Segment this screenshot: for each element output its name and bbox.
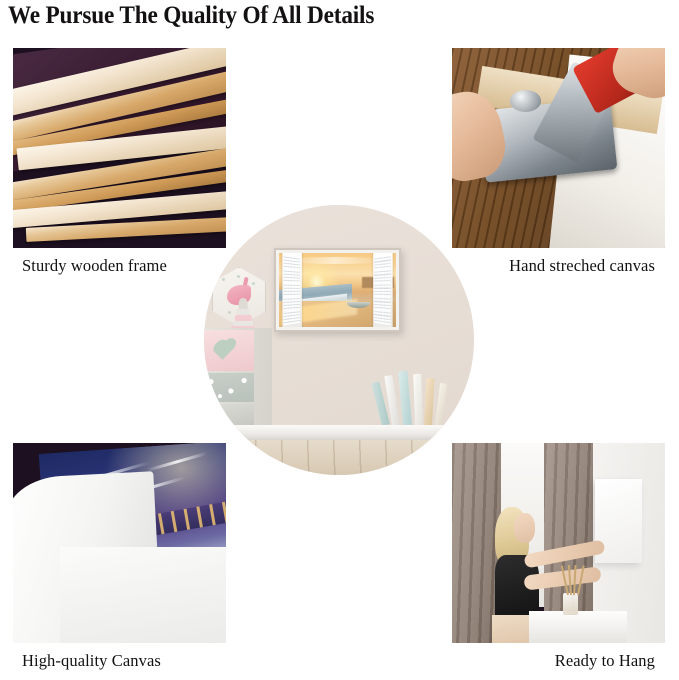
page-title: We Pursue The Quality Of All Details <box>8 2 374 30</box>
canvas-roll-base <box>60 547 226 643</box>
window-shutter-left <box>283 250 302 330</box>
feature-panel-sturdy-wooden-frame: Sturdy wooden frame <box>13 48 226 288</box>
book <box>398 371 412 426</box>
wood-floor <box>204 440 474 475</box>
caption-hand-streched-canvas: Hand streched canvas <box>452 256 665 276</box>
dresser-drawer-pink <box>204 330 254 371</box>
book <box>435 383 447 426</box>
heart-decal <box>215 341 233 359</box>
feature-panel-ready-to-hang: Ready to Hang <box>452 443 665 680</box>
room-preview-circle <box>204 205 474 475</box>
caption-high-quality-canvas: High-quality Canvas <box>13 651 226 671</box>
window-shutter-right <box>373 250 392 330</box>
beached-boat <box>347 302 369 308</box>
caption-sturdy-wooden-frame: Sturdy wooden frame <box>13 256 226 276</box>
photo-ready-to-hang <box>452 443 665 643</box>
caption-ready-to-hang: Ready to Hang <box>452 651 665 671</box>
photo-high-quality-canvas <box>13 443 226 643</box>
white-table <box>529 611 627 643</box>
book <box>424 377 435 425</box>
shutter-pane-grid <box>374 254 391 325</box>
feature-panel-high-quality-canvas: High-quality Canvas <box>13 443 226 680</box>
white-baseboard <box>204 425 474 440</box>
photo-sturdy-wooden-frame <box>13 48 226 248</box>
woman-face <box>514 513 535 543</box>
product-detail-infographic: We Pursue The Quality Of All Details Stu… <box>0 0 679 680</box>
photo-hand-streched-canvas <box>452 48 665 248</box>
beach-sunset-scene <box>276 250 399 330</box>
dresser-drawer-polka-dot <box>204 373 254 402</box>
book <box>413 374 423 426</box>
leaning-books <box>382 371 452 425</box>
wall-canvas-print <box>274 248 401 332</box>
dresser-drawer-bottom <box>204 404 254 425</box>
reed-diffuser-bottle <box>563 593 578 615</box>
staple-gun-knob <box>510 90 542 112</box>
shutter-pane-grid <box>284 254 301 325</box>
pink-dresser <box>204 328 272 425</box>
feature-panel-hand-streched-canvas: Hand streched canvas <box>452 48 665 288</box>
